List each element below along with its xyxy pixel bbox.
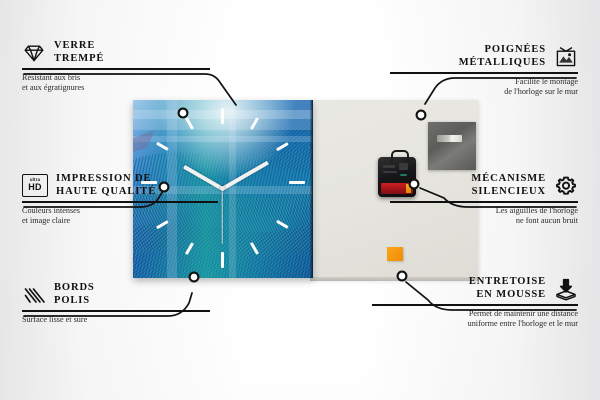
divider [22, 201, 218, 203]
mechanism-hook [391, 150, 409, 162]
mechanism-detail [383, 165, 395, 168]
feature-title-line1: VERRE [54, 40, 95, 51]
feature-entretoise-en-mousse[interactable]: ENTRETOISE EN MOUSSE Permet de maintenir… [372, 276, 578, 330]
gear-icon [554, 174, 578, 198]
divider [372, 304, 578, 306]
feature-verre-trempe[interactable]: VERRE TREMPÉ Résistant aux bris et aux é… [22, 40, 210, 94]
framed-picture-icon [554, 45, 578, 69]
feature-desc-line1: Facilite le montage [515, 77, 578, 86]
feature-title-line1: IMPRESSION DE [56, 173, 151, 184]
feature-bords-polis[interactable]: BORDS POLIS Surface lisse et sûre [22, 282, 210, 325]
feature-desc-line1: Résistant aux bris [22, 73, 80, 82]
foam-spacer-icon [554, 277, 578, 301]
foam-spacer [387, 247, 403, 261]
infographic-canvas: VERRE TREMPÉ Résistant aux bris et aux é… [0, 0, 600, 400]
feature-desc-line2: de l'horloge sur le mur [504, 87, 578, 96]
clock-tick [221, 108, 224, 124]
feature-title-line1: BORDS [54, 282, 95, 293]
feature-poignees-metalliques[interactable]: POIGNÉES MÉTALLIQUES Facilite le montage… [390, 44, 578, 98]
polished-edges-icon [22, 283, 46, 307]
divider [390, 201, 578, 203]
feature-desc-line1: Couleurs intenses [22, 206, 80, 215]
second-hand [221, 189, 222, 244]
feature-desc-line1: Permet de maintenir une distance [469, 309, 578, 318]
feature-desc-line2: et aux égratignures [22, 83, 84, 92]
feature-desc-line1: Les aiguilles de l'horloge [496, 206, 578, 215]
feature-title-line2: SILENCIEUX [472, 186, 546, 197]
clock-center-cap [220, 186, 225, 191]
glass-edge [310, 100, 313, 278]
feature-mecanisme-silencieux[interactable]: MÉCANISME SILENCIEUX Les aiguilles de l'… [390, 173, 578, 227]
feature-title-line1: POIGNÉES [485, 44, 546, 55]
feature-impression-haute-qualite[interactable]: ultra HD IMPRESSION DE HAUTE QUALITÉ Cou… [22, 173, 218, 227]
feature-title-line2: HAUTE QUALITÉ [56, 186, 156, 197]
clock-tick [221, 252, 224, 268]
diamond-icon [22, 41, 46, 65]
clock-tick [289, 181, 305, 184]
ultra-hd-icon: ultra HD [22, 174, 48, 197]
feature-title-line2: POLIS [54, 295, 90, 306]
feature-title-line2: MÉTALLIQUES [459, 57, 546, 68]
feature-title-line2: TREMPÉ [54, 53, 104, 64]
feature-title-line1: MÉCANISME [471, 173, 546, 184]
metal-hanger-plate [428, 122, 476, 170]
feature-title-line2: EN MOUSSE [476, 289, 546, 300]
divider [22, 68, 210, 70]
divider [22, 310, 210, 312]
hanger-slot [437, 135, 462, 142]
ultra-hd-icon-main: HD [28, 183, 42, 193]
feature-desc-line1: Surface lisse et sûre [22, 315, 87, 324]
feature-desc-line2: et image claire [22, 216, 70, 225]
mechanism-detail [399, 163, 408, 170]
feature-desc-line2: ne font aucun bruit [516, 216, 578, 225]
divider [390, 72, 578, 74]
feature-title-line1: ENTRETOISE [469, 276, 546, 287]
feature-desc-line2: uniforme entre l'horloge et le mur [468, 319, 578, 328]
